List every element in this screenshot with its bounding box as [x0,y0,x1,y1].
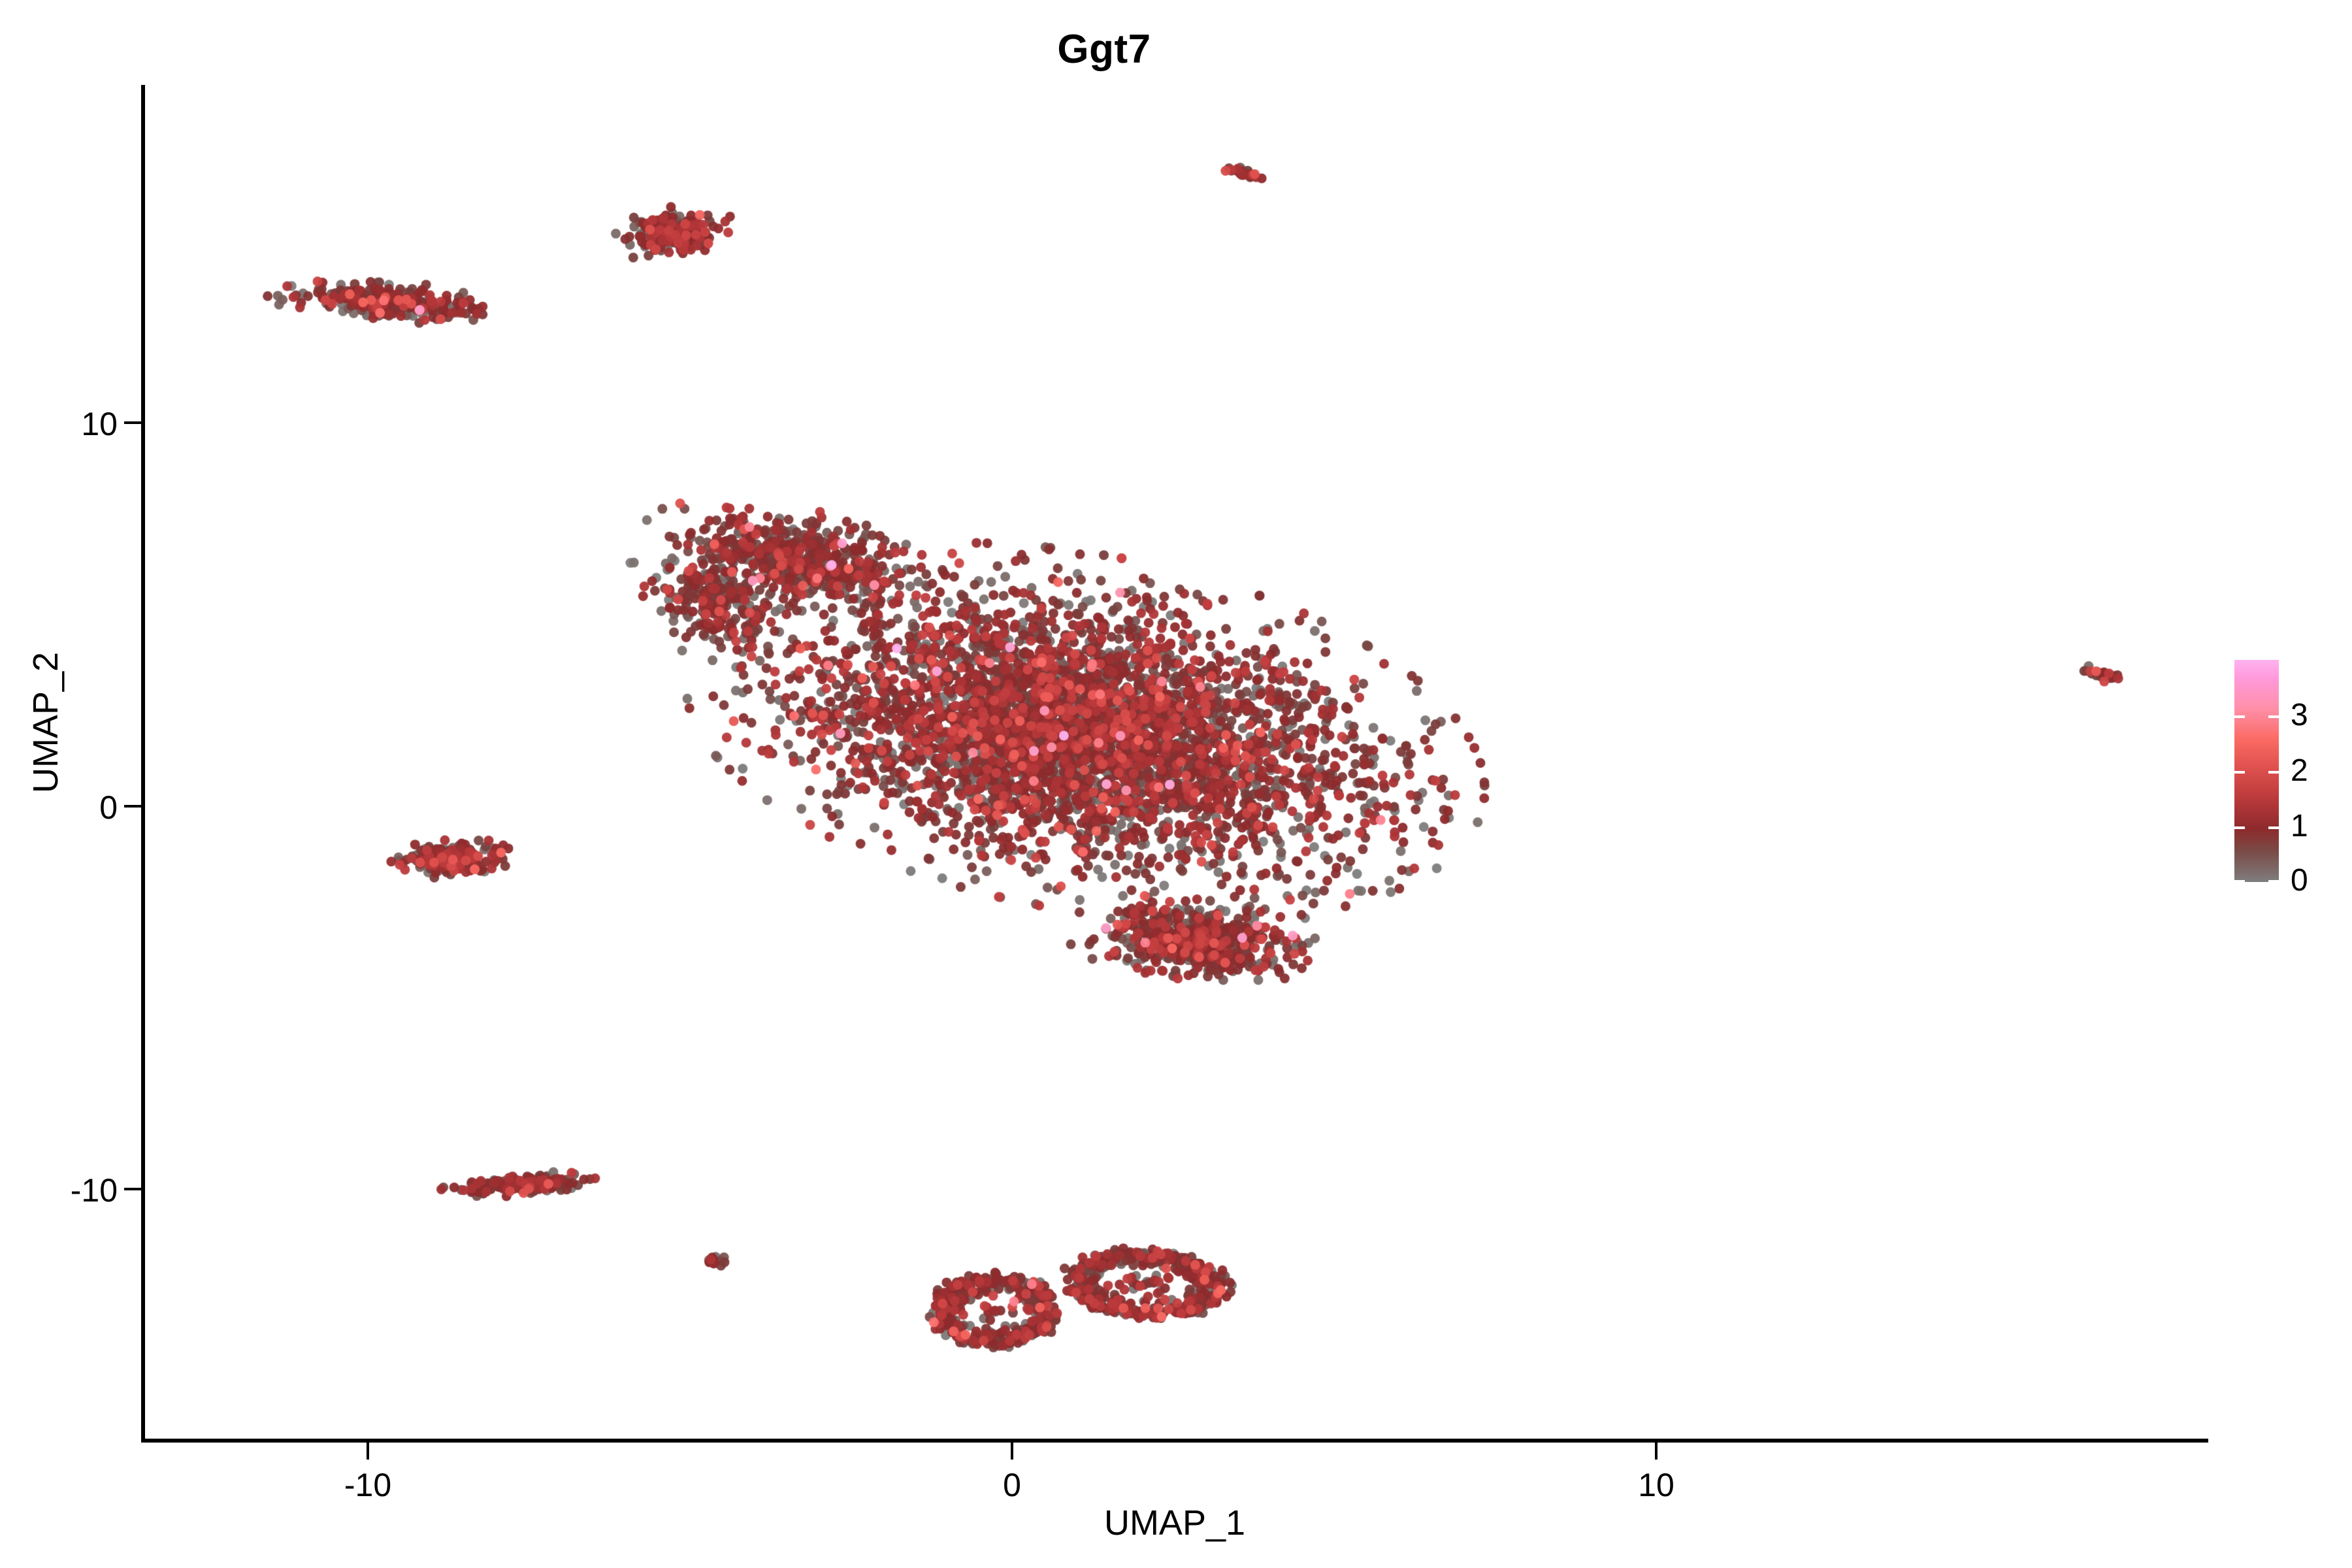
y-tick-label-0: 10 [0,405,118,443]
scatter-points-layer [144,85,2208,1441]
scatter-panel [144,85,2208,1441]
x-tick-mark-0 [367,1443,369,1460]
colorbar-tick-right-3 [2268,715,2279,718]
colorbar-tick-left-3 [2234,715,2245,718]
color-legend: 3 2 1 0 [2234,660,2339,908]
y-axis-title: UMAP_2 [25,461,66,984]
y-axis-line [141,85,145,1443]
x-tick-label-1: 0 [914,1466,1110,1504]
y-tick-mark-0 [124,421,141,424]
colorbar-tick-left-2 [2234,771,2245,774]
colorbar-tick-right-2 [2268,771,2279,774]
colorbar-tick-right-1 [2268,826,2279,829]
x-axis-line [141,1439,2208,1443]
colorbar-label-3: 3 [2291,700,2308,731]
page-title: Ggt7 [0,26,2208,73]
x-tick-label-0: -10 [270,1466,466,1504]
y-tick-mark-2 [124,1188,141,1190]
x-tick-mark-1 [1011,1443,1013,1460]
x-tick-mark-2 [1655,1443,1658,1460]
colorbar-label-2: 2 [2291,755,2308,787]
feature-plot-root: Ggt7 -10 0 10 10 0 -10 UMAP_1 UMAP_2 3 2… [0,0,2352,1568]
x-axis-title: UMAP_1 [141,1503,2208,1543]
colorbar-label-0: 0 [2291,865,2308,896]
colorbar-tick-left-0 [2234,880,2245,883]
colorbar-tick-left-1 [2234,826,2245,829]
colorbar-label-1: 1 [2291,811,2308,842]
x-tick-label-2: 10 [1558,1466,1754,1504]
colorbar-tick-right-0 [2268,880,2279,883]
y-tick-label-2: -10 [0,1171,118,1209]
y-tick-mark-1 [124,805,141,808]
